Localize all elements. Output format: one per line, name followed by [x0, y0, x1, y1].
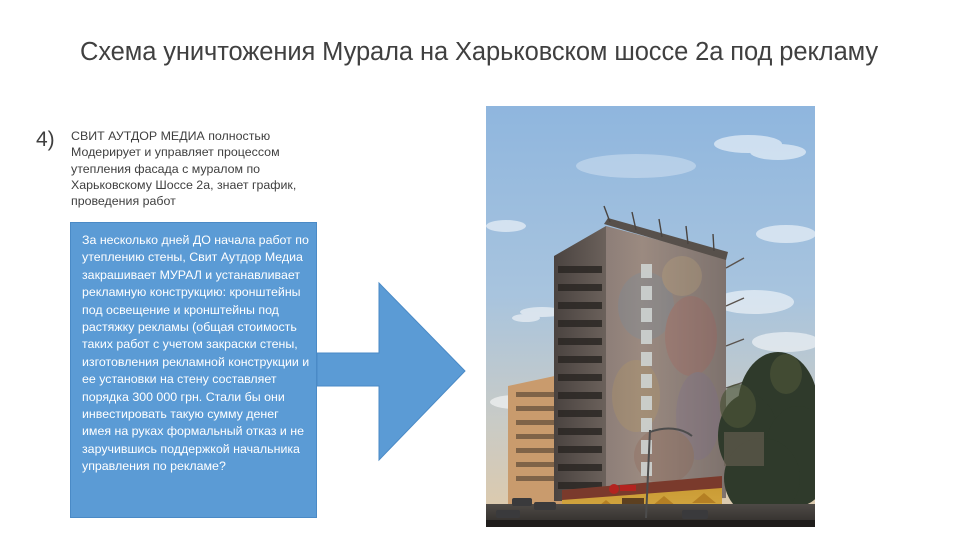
photo-content — [486, 106, 815, 527]
list-item-text: СВИТ АУТДОР МЕДИА полностью Модерирует и… — [71, 128, 323, 209]
callout-text: За несколько дней ДО начала работ по уте… — [82, 232, 310, 476]
right-arrow-icon — [300, 278, 472, 468]
list-item-marker: 4) — [36, 128, 55, 152]
callout-box: За несколько дней ДО начала работ по уте… — [70, 222, 317, 518]
building-photo — [486, 106, 815, 527]
right-arrow-shape — [300, 278, 472, 468]
page-title: Схема уничтожения Мурала на Харьковском … — [80, 38, 900, 67]
